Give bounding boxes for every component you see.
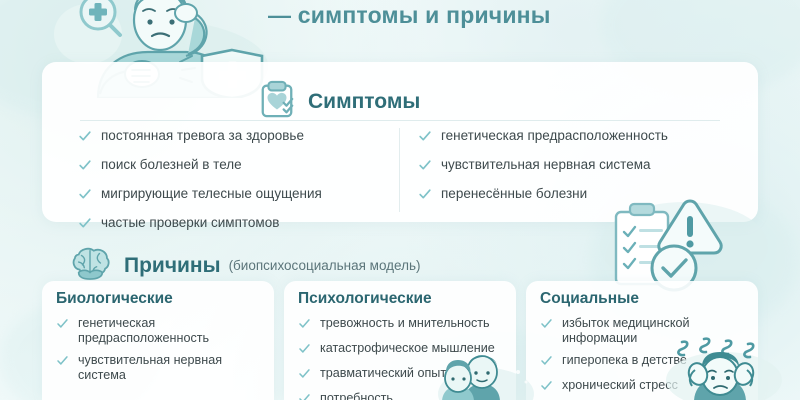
list-item: генетическая предрасположенность	[418, 128, 738, 148]
causes-header: Причины (биопсихосоциальная модель)	[68, 246, 421, 285]
check-icon	[298, 342, 311, 360]
symptoms-header: Симптомы	[258, 80, 420, 123]
couple-illustration	[420, 352, 540, 400]
list-item: частые проверки симптомов	[78, 215, 388, 235]
causes-subtitle: (биопсихосоциальная модель)	[229, 258, 421, 273]
symptoms-left-list: постоянная тревога за здоровье поиск бол…	[78, 128, 388, 244]
list-item: тревожность и мнительность	[298, 316, 502, 335]
list-item-label: тревожность и мнительность	[320, 316, 490, 331]
list-item: чувствительная нервная система	[56, 353, 260, 384]
list-item: поиск болезней в теле	[78, 157, 388, 177]
cause-column-title: Психологические	[298, 290, 502, 308]
infographic-canvas: — симптомы и причины Симптомы постоянная…	[0, 0, 800, 400]
list-item: постоянная тревога за здоровье	[78, 128, 388, 148]
stressed-person-illustration	[662, 336, 786, 400]
check-icon	[540, 379, 553, 397]
list-item-label: чувствительная нервная система	[78, 353, 260, 384]
list-item-label: генетическая предрасположенность	[78, 316, 260, 347]
check-icon	[78, 129, 92, 148]
list-item-label: потребность	[320, 391, 393, 400]
list-item-label: генетическая предрасположенность	[441, 128, 668, 144]
check-icon	[418, 158, 432, 177]
list-item: чувствительная нервная система	[418, 157, 738, 177]
check-icon	[298, 317, 311, 335]
list-item-label: чувствительная нервная система	[441, 157, 651, 173]
brain-icon	[68, 246, 112, 285]
causes-columns: Биологические генетическая предрасположе…	[42, 281, 758, 400]
check-icon	[56, 354, 69, 372]
symptoms-divider	[80, 120, 720, 121]
icons-cluster-illustration	[598, 190, 778, 294]
list-item-label: постоянная тревога за здоровье	[101, 128, 304, 144]
list-item-label: перенесённые болезни	[441, 186, 587, 202]
check-icon	[56, 317, 69, 335]
check-icon	[418, 129, 432, 148]
check-icon	[298, 392, 311, 400]
check-icon	[298, 367, 311, 385]
causes-title: Причины	[124, 254, 221, 278]
list-item-label: поиск болезней в теле	[101, 157, 242, 173]
cause-column-title: Социальные	[540, 290, 744, 308]
check-icon	[418, 187, 432, 206]
symptoms-title: Симптомы	[308, 90, 420, 114]
check-icon	[540, 317, 553, 335]
list-item-label: хронический стресс	[562, 378, 678, 393]
cause-column-biological: Биологические генетическая предрасположе…	[42, 281, 274, 400]
check-icon	[78, 216, 92, 235]
symptoms-column-divider	[399, 128, 400, 212]
check-icon	[78, 158, 92, 177]
clipboard-heart-icon	[258, 80, 296, 123]
cause-column-title: Биологические	[56, 290, 260, 308]
list-item-label: частые проверки симптомов	[101, 215, 279, 231]
list-item: генетическая предрасположенность	[56, 316, 260, 347]
check-icon	[78, 187, 92, 206]
page-title: — симптомы и причины	[268, 2, 698, 29]
list-item-label: мигрирующие телесные ощущения	[101, 186, 322, 202]
check-icon	[540, 354, 553, 372]
list-item: мигрирующие телесные ощущения	[78, 186, 388, 206]
